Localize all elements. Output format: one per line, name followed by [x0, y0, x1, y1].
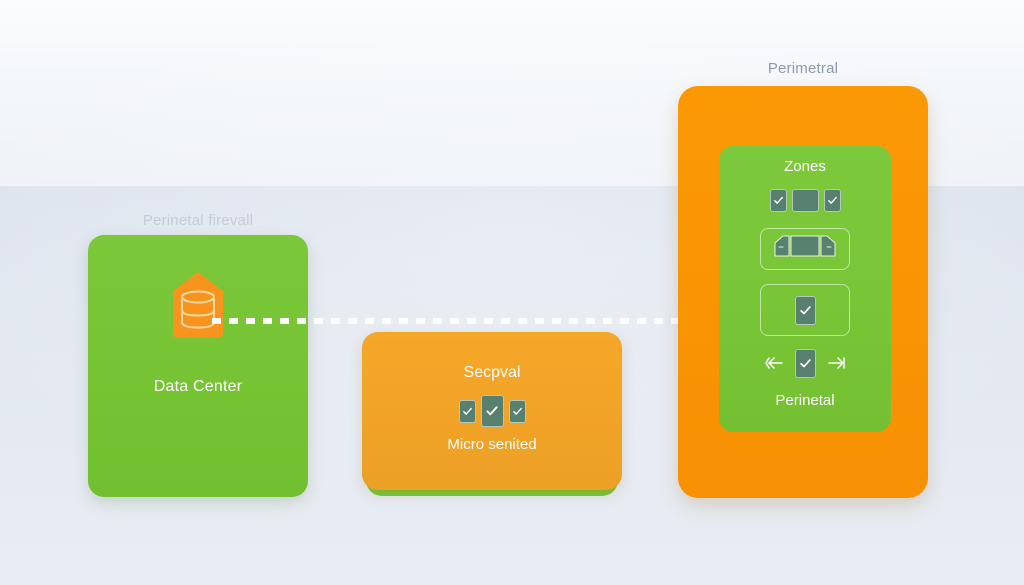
- segmentation-tile-group: [362, 394, 622, 428]
- datacenter-card[interactable]: Data Center: [88, 235, 308, 497]
- zones-title: Zones: [719, 158, 891, 175]
- arrow-left-icon[interactable]: [765, 356, 783, 370]
- dashed-connector-line: [212, 318, 680, 324]
- check-icon: [482, 396, 503, 426]
- arrow-right-icon[interactable]: [828, 356, 846, 370]
- check-tile[interactable]: [509, 400, 526, 423]
- blank-tile[interactable]: [792, 189, 819, 212]
- segmentation-title: Secpval: [362, 364, 622, 382]
- check-icon: [771, 190, 786, 211]
- traffic-flow-row: [719, 346, 891, 380]
- vehicle-panels-box[interactable]: [760, 228, 850, 270]
- check-tile[interactable]: [795, 349, 816, 378]
- database-tag-icon: [168, 269, 228, 346]
- segmentation-card[interactable]: Secpval Micro senited: [362, 332, 622, 490]
- connector-dashes: [212, 318, 680, 324]
- vehicle-panels-icon: [774, 235, 836, 264]
- check-icon: [796, 350, 815, 377]
- check-tile[interactable]: [481, 395, 504, 427]
- diagram-canvas: Perinetal firevall Data Center Secpval: [0, 0, 1024, 585]
- segmentation-caption: Micro senited: [362, 436, 622, 453]
- zones-tile-group: [719, 186, 891, 214]
- check-icon: [510, 401, 525, 422]
- check-tile[interactable]: [824, 189, 841, 212]
- check-icon: [796, 297, 815, 324]
- perimeter-caption: Perimetral: [678, 60, 928, 77]
- check-tile[interactable]: [795, 296, 816, 325]
- check-icon: [825, 190, 840, 211]
- datacenter-caption: Perinetal firevall: [88, 212, 308, 229]
- datacenter-label: Data Center: [88, 378, 308, 396]
- check-tile-box[interactable]: [760, 284, 850, 336]
- zones-panel[interactable]: Zones: [719, 146, 891, 432]
- check-icon: [460, 401, 475, 422]
- perimeter-bottom-label: Perinetal: [719, 392, 891, 409]
- check-tile[interactable]: [459, 400, 476, 423]
- check-tile[interactable]: [770, 189, 787, 212]
